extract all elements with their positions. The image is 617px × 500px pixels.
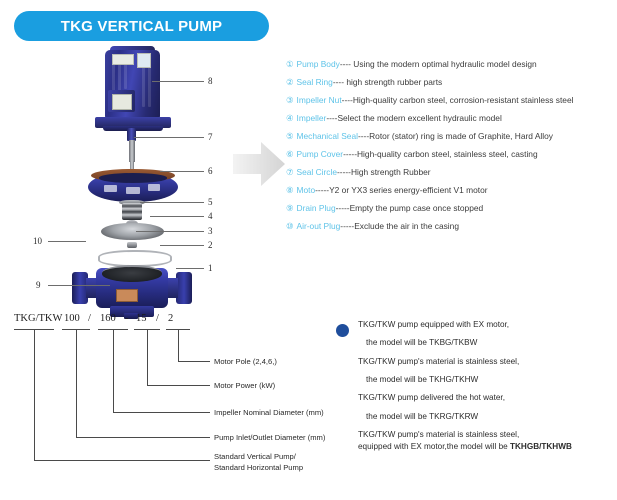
- casing-opening: [102, 265, 162, 282]
- legend-description: -----High-quality carbon steel, stainles…: [343, 150, 538, 160]
- legend-part-name: Pump Cover: [297, 150, 344, 160]
- legend-number-icon: ③: [286, 96, 294, 106]
- motor-fin: [124, 63, 127, 89]
- model-label-standard-horizontal: Standard Horizontal Pump: [214, 462, 303, 473]
- page-title: TKG VERTICAL PUMP: [61, 18, 222, 35]
- impeller-nut-part: [127, 242, 137, 248]
- motor-shaft: [129, 140, 135, 162]
- callout-number-10: 10: [33, 236, 42, 246]
- code-drop-power: [147, 329, 148, 385]
- legend-item: ⑩ Air-out Plug -----Exclude the air in t…: [286, 222, 617, 232]
- legend-description: ----Rotor (stator) ring is made of Graph…: [358, 132, 553, 142]
- legend-number-icon: ②: [286, 78, 294, 88]
- code-drop-pole: [178, 329, 179, 361]
- model-token-inlet: 100: [64, 313, 80, 324]
- outlet-flange: [176, 272, 192, 304]
- callout-number-8: 8: [208, 76, 213, 86]
- callout-line-7: [134, 137, 204, 138]
- model-separator: /: [156, 313, 159, 324]
- callout-line-3: [136, 231, 204, 232]
- note-line: the model will be TKRG/TKRW: [358, 412, 617, 422]
- legend-part-name: Air-out Plug: [297, 222, 341, 232]
- callout-line-9: [48, 285, 110, 286]
- callout-line-6: [160, 171, 204, 172]
- motor-sticker: [137, 53, 151, 68]
- legend-part-name: Impeller Nut: [297, 96, 342, 106]
- callout-number-2: 2: [208, 240, 213, 250]
- legend-number-icon: ④: [286, 114, 294, 124]
- mechanical-seal-part: [122, 203, 142, 220]
- code-elbow-impeller: [113, 412, 210, 413]
- note-bold-model: TKHGB/TKHWB: [510, 442, 572, 451]
- legend-part-name: Pump Body: [297, 60, 340, 70]
- model-label-standard-vertical: Standard Vertical Pump/: [214, 451, 296, 462]
- callout-line-4: [150, 216, 204, 217]
- code-elbow-pole: [178, 361, 210, 362]
- model-code-breakdown: TKG/TKW 100 / 160 - 15 / 2 Motor Pole (2…: [0, 313, 330, 500]
- pump-cover-part: [88, 172, 178, 202]
- legend-item: ④ Impeller ----Select the modern excelle…: [286, 114, 617, 124]
- cover-window: [148, 184, 160, 191]
- legend-number-icon: ⑦: [286, 168, 294, 178]
- note-text: equipped with EX motor,the model will be: [358, 442, 510, 451]
- page-title-banner: TKG VERTICAL PUMP: [14, 11, 269, 41]
- legend-description: -----Y2 or YX3 series energy-efficient V…: [315, 186, 487, 196]
- legend-item: ⑧ Moto -----Y2 or YX3 series energy-effi…: [286, 186, 617, 196]
- legend-description: ---- high strength rubber parts: [333, 78, 442, 88]
- legend-number-icon: ①: [286, 60, 294, 70]
- pump-body-part: [72, 263, 192, 315]
- model-label-pole: Motor Pole (2,4,6,): [214, 356, 277, 367]
- note-line-final: equipped with EX motor,the model will be…: [358, 442, 617, 452]
- callout-number-7: 7: [208, 132, 213, 142]
- note-line: TKG/TKW pump's material is stainless ste…: [358, 430, 617, 440]
- terminal-box-plate: [112, 94, 132, 110]
- model-token-impeller: 160: [100, 313, 116, 324]
- legend-part-name: Moto: [297, 186, 316, 196]
- legend-part-name: Mechanical Seal: [297, 132, 358, 142]
- legend-number-icon: ⑨: [286, 204, 294, 214]
- code-drop-impeller: [113, 329, 114, 412]
- note-line: TKG/TKW pump's material is stainless ste…: [358, 357, 617, 367]
- note-line: TKG/TKW pump delivered the hot water,: [358, 393, 617, 403]
- callout-number-5: 5: [208, 197, 213, 207]
- legend-item: ⑨ Drain Plug -----Empty the pump case on…: [286, 204, 617, 214]
- note-line: the model will be TKBG/TKBW: [358, 338, 617, 348]
- legend-item: ② Seal Ring ---- high strength rubber pa…: [286, 78, 617, 88]
- legend-item: ① Pump Body ---- Using the modern optima…: [286, 60, 617, 70]
- parts-legend: ① Pump Body ---- Using the modern optima…: [286, 60, 617, 240]
- motor-mounting-flange: [95, 117, 171, 128]
- legend-description: ---- Using the modern optimal hydraulic …: [340, 60, 537, 70]
- model-label-power: Motor Power (kW): [214, 380, 275, 391]
- code-elbow-power: [147, 385, 210, 386]
- callout-line-2: [160, 245, 204, 246]
- legend-part-name: Drain Plug: [297, 204, 336, 214]
- legend-part-name: Seal Ring: [297, 78, 333, 88]
- callout-number-6: 6: [208, 166, 213, 176]
- model-label-inlet: Pump Inlet/Outlet Diameter (mm): [214, 432, 325, 443]
- legend-item: ⑥ Pump Cover -----High-quality carbon st…: [286, 150, 617, 160]
- bullet-circle-icon: [336, 324, 349, 337]
- legend-item: ③ Impeller Nut ----High-quality carbon s…: [286, 96, 617, 106]
- callout-number-1: 1: [208, 263, 213, 273]
- legend-number-icon: ⑧: [286, 186, 294, 196]
- callout-number-4: 4: [208, 211, 213, 221]
- model-token-series: TKG/TKW: [14, 313, 62, 324]
- motor-fin: [142, 63, 145, 107]
- callout-line-5: [140, 202, 204, 203]
- callout-number-9: 9: [36, 280, 41, 290]
- model-token-pole: 2: [168, 313, 173, 324]
- note-line: TKG/TKW pump equipped with EX motor,: [358, 320, 617, 330]
- model-label-impeller: Impeller Nominal Diameter (mm): [214, 407, 324, 418]
- code-drop-series: [34, 329, 35, 460]
- code-elbow-series: [34, 460, 210, 461]
- legend-item: ⑤ Mechanical Seal ----Rotor (stator) rin…: [286, 132, 617, 142]
- pump-exploded-diagram: 8 7 6 5 4 3 2 1 10 9: [0, 45, 270, 310]
- model-variant-notes: TKG/TKW pump equipped with EX motor, the…: [336, 320, 617, 460]
- code-elbow-inlet: [76, 437, 210, 438]
- legend-description: -----Empty the pump case once stopped: [336, 204, 484, 214]
- callout-number-3: 3: [208, 226, 213, 236]
- callout-line-1: [176, 268, 204, 269]
- right-arrow-icon: [233, 140, 285, 188]
- motor-nameplate: [112, 54, 134, 65]
- legend-number-icon: ⑩: [286, 222, 294, 232]
- callout-line-10: [48, 241, 86, 242]
- legend-description: -----High strength Rubber: [337, 168, 431, 178]
- cover-window: [126, 187, 140, 194]
- legend-number-icon: ⑥: [286, 150, 294, 160]
- casing-nameplate: [116, 289, 138, 302]
- legend-item: ⑦ Seal Circle -----High strength Rubber: [286, 168, 617, 178]
- code-drop-inlet: [76, 329, 77, 437]
- cover-window: [104, 185, 117, 192]
- legend-part-name: Impeller: [297, 114, 327, 124]
- legend-description: -----Exclude the air in the casing: [340, 222, 459, 232]
- datasheet-page: TKG VERTICAL PUMP: [0, 0, 617, 500]
- legend-description: ----High-quality carbon steel, corrosion…: [342, 96, 574, 106]
- legend-number-icon: ⑤: [286, 132, 294, 142]
- model-separator: /: [88, 313, 91, 324]
- legend-description: ----Select the modern excellent hydrauli…: [326, 114, 502, 124]
- model-separator: -: [125, 313, 129, 324]
- note-line: the model will be TKHG/TKHW: [358, 375, 617, 385]
- model-token-power: 15: [136, 313, 147, 324]
- legend-part-name: Seal Circle: [297, 168, 338, 178]
- callout-line-8: [152, 81, 204, 82]
- motor-fin: [148, 63, 151, 107]
